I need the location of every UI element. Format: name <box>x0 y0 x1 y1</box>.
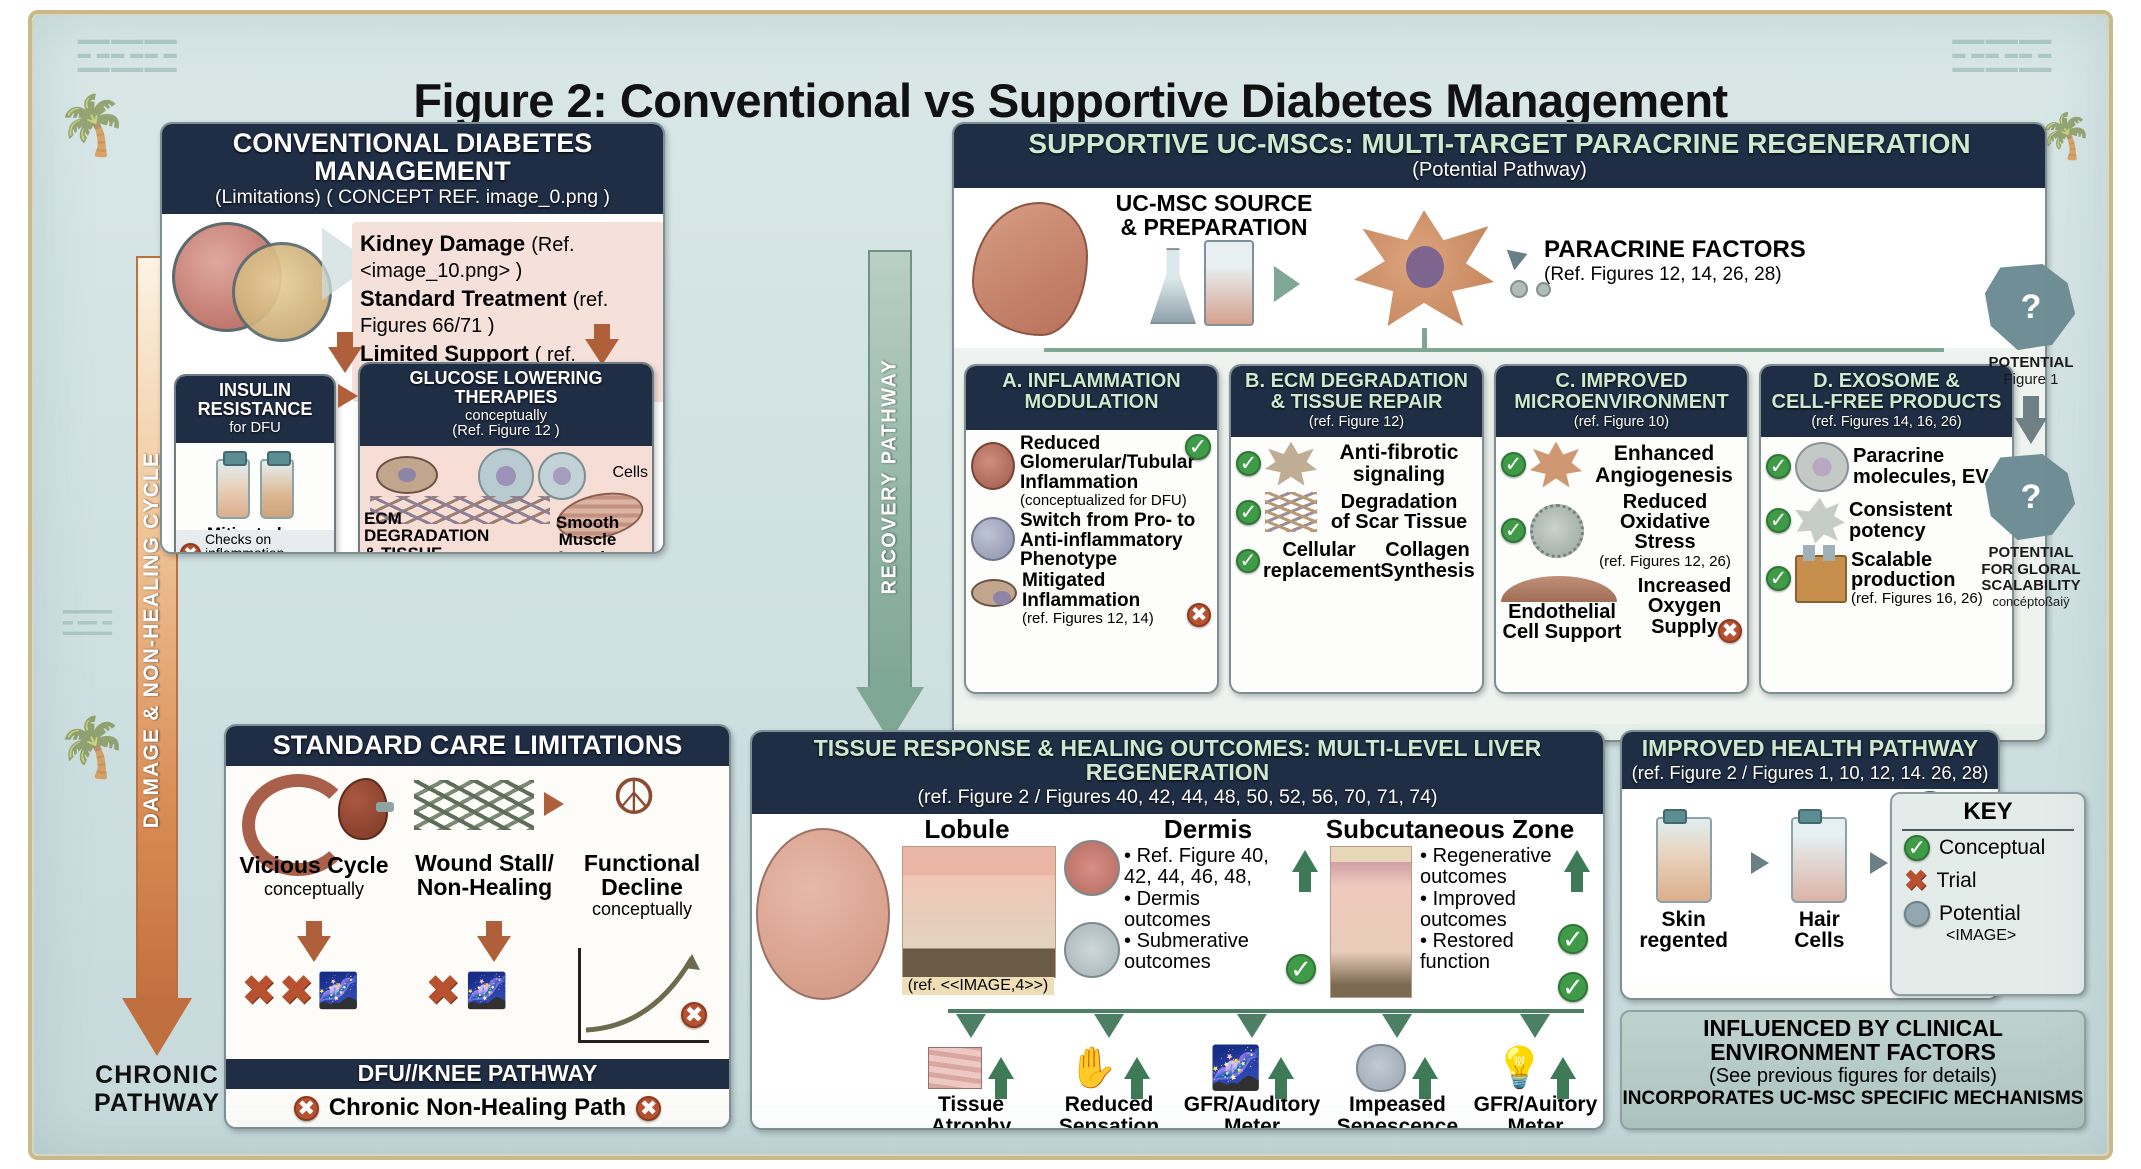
insulin-resistance-card: INSULIN RESISTANCE for DFU ✓ Mitigated <box>174 374 336 554</box>
down-arrow-shaft <box>486 921 502 937</box>
ecm-l2: & TISSUE ATROPHY <box>364 545 524 554</box>
tissue-response-header: TISSUE RESPONSE & HEALING OUTCOMES: MULT… <box>752 732 1603 814</box>
conventional-card: CONVENTIONAL DIABETES MANAGEMENT (Limita… <box>160 122 665 554</box>
panel-a-item1-l2: Anti-inflammatory <box>1020 531 1212 550</box>
health-step: Skin regented <box>1639 817 1728 952</box>
insulin-footer-note: ✖ Checks on inflammation conceptually <box>176 530 334 554</box>
down-arrow-shaft <box>306 921 322 937</box>
vicious-title: Vicious Cycle <box>226 852 402 879</box>
dermis-bullet-2: Submerative outcomes <box>1124 930 1249 973</box>
outcome-l1: GFR/Auditory <box>1178 1094 1326 1115</box>
snail-icon: 🌌 <box>317 971 359 1011</box>
arrow-source-to-cell <box>1274 266 1300 302</box>
key-row-trial: ✖ Trial <box>1892 865 2084 897</box>
potential-arrow-shaft <box>2023 396 2039 418</box>
insulin-resistance-header: INSULIN RESISTANCE for DFU <box>176 376 334 443</box>
tissue-atrophy-icon <box>928 1047 982 1089</box>
vicious-sub: conceptually <box>226 879 402 900</box>
panel-b-item2-l2: replacement <box>1263 561 1375 581</box>
list-item: • Improved outcomes <box>1420 889 1570 931</box>
outcome-item: Tissue Atrophy <box>902 1014 1040 1130</box>
source-l1: UC-MSC SOURCE <box>1104 192 1324 216</box>
panel-c-item2b-l1: Increased <box>1627 576 1742 596</box>
check-badge-icon: ✓ <box>1501 452 1526 477</box>
down-arrow-icon <box>956 1014 986 1038</box>
palm-icon-right: 🌴 <box>2038 110 2093 162</box>
potential-bottom-l3: SCALABILITY <box>1971 578 2091 595</box>
panel-a-item0-sub: (conceptualized for DFU) <box>1020 492 1212 509</box>
panel-b-l1: B. ECM DEGRADATION <box>1245 370 1468 392</box>
insulin-vial-icon <box>216 459 250 519</box>
oxidative-stress-icon <box>1530 504 1584 558</box>
potential-column-top: ? POTENTIAL Figure 1 ? POTENTIAL FOR GLO… <box>1971 264 2091 609</box>
outcome-l2: Atrophy <box>902 1116 1040 1130</box>
vascular-branch-icon: ☮ <box>578 772 690 830</box>
arrow-to-paracrine <box>1507 244 1531 271</box>
collagen-fibers-icon <box>414 780 534 830</box>
chronic-non-healing-row: ✖ Chronic Non-Healing Path ✖ <box>226 1089 729 1127</box>
angiogenic-cell-icon <box>1530 442 1582 488</box>
panel-b-ecm-degradation-tissue-repair: B. ECM DEGRADATION & TISSUE REPAIR (ref.… <box>1229 364 1484 694</box>
smooth-muscle-label: Smooth Muscle Atrophy conceptually (Ref.… <box>525 514 650 554</box>
improved-health-title: IMPROVED HEALTH PATHWAY <box>1642 735 1979 761</box>
up-arrow-icon <box>1268 1057 1294 1079</box>
standard-care-header: STANDARD CARE LIMITATIONS <box>226 726 729 766</box>
outcome-l2: Meter <box>1178 1116 1326 1130</box>
key-label: Potential <box>1939 902 2021 926</box>
x-badge-icon: ✖ <box>681 1002 707 1028</box>
item-vicious-cycle: Vicious Cycle conceptually <box>226 852 402 920</box>
x-badge-icon: ✖ <box>180 543 201 554</box>
cochlea-icon: 🌌 <box>1210 1044 1262 1093</box>
panel-b-sub: (ref. Figure 12) <box>1237 415 1476 430</box>
down-arrow-to-insulin <box>328 347 362 373</box>
lightbulb-icon: 💡 <box>1495 1048 1545 1088</box>
potential-badge-icon <box>1904 901 1930 927</box>
potential-top-label: POTENTIAL Figure 1 <box>1971 355 2091 388</box>
down-arrow-icon <box>1520 1014 1550 1038</box>
senescent-cell-icon <box>1356 1044 1406 1092</box>
dermis-bullets: • Ref. Figure 40, 42, 44, 46, 48, • Derm… <box>1124 846 1284 973</box>
potential-bottom-l2: FOR GLORAL <box>1971 562 2091 579</box>
tissue-response-title: TISSUE RESPONSE & HEALING OUTCOMES: MULT… <box>814 735 1542 785</box>
panel-a-item0-l3: Inflammation <box>1020 473 1212 492</box>
panel-b-l2: & TISSUE REPAIR <box>1271 391 1443 413</box>
panel-a-header: A. INFLAMMATION MODULATION <box>966 366 1217 430</box>
insulin-resistance-sub: for DFU <box>182 421 328 436</box>
key-box: KEY ✓ Conceptual ✖ Trial Potential <IMAG… <box>1890 792 2086 996</box>
improved-health-sub: (ref. Figure 2 / Figures 1, 10, 12, 14. … <box>1628 763 1992 782</box>
down-arrow-shaft <box>337 332 353 348</box>
down-arrow-icon <box>1237 1014 1267 1038</box>
standard-care-card: STANDARD CARE LIMITATIONS ☮ Vicious Cycl… <box>224 724 731 1129</box>
wound-title-l1: Wound Stall/ <box>402 852 567 875</box>
scar-fibers-icon <box>1265 492 1317 532</box>
improved-health-header: IMPROVED HEALTH PATHWAY (ref. Figure 2 /… <box>1622 732 1998 789</box>
glucose-lowering-card: GLUCOSE LOWERING THERAPIES conceptually … <box>358 362 654 554</box>
panel-c-improved-microenvironment: C. IMPROVED MICROENVIRONMENT (ref. Figur… <box>1494 364 1749 694</box>
outcome-l1: GFR/Auitory <box>1469 1094 1602 1115</box>
smooth-l1: Smooth Muscle <box>525 514 650 549</box>
supportive-header-sub: (Potential Pathway) <box>960 160 2039 181</box>
standard-care-body: ☮ Vicious Cycle conceptually Wound Stall… <box>226 766 729 1068</box>
check-badge-icon: ✓ <box>1558 972 1588 1002</box>
failed-outcome-group-2: ✖ 🌌 <box>426 971 508 1011</box>
influenced-l3: (See previous figures for details) <box>1622 1065 2084 1088</box>
panel-c-item0-l1: Enhanced <box>1586 443 1742 464</box>
glucose-lowering-title: GLUCOSE LOWERING THERAPIES <box>410 368 603 407</box>
x-badge-icon: ✖ <box>294 1096 319 1121</box>
check-badge-icon: ✓ <box>1558 924 1588 954</box>
panel-b-item1-l2: of Scar Tissue <box>1321 512 1477 532</box>
panel-a-item0-l2: Glomerular/Tubular <box>1020 453 1212 472</box>
up-arrow-icon <box>988 1057 1014 1079</box>
panel-a-l2: MODULATION <box>1024 391 1158 413</box>
check-badge-icon: ✓ <box>1236 500 1261 525</box>
snail-icon: 🌌 <box>466 971 508 1011</box>
kidney-icon <box>338 778 388 840</box>
potential-bottom-l1: POTENTIAL <box>1971 545 2091 562</box>
down-arrow-vicious <box>297 936 331 962</box>
flat-cell-icon <box>971 579 1017 607</box>
key-label: Trial <box>1936 869 1976 893</box>
outcome-l2: Senescence <box>1326 1116 1469 1130</box>
panel-a-l1: A. INFLAMMATION <box>1002 370 1181 392</box>
up-arrow-icon <box>1412 1057 1438 1079</box>
panel-b-item0-l1: Anti-fibrotic <box>1321 442 1477 463</box>
subq-bullets: • Regenerative outcomes • Improved outco… <box>1420 846 1570 973</box>
dermis-bullet-0: Ref. Figure 40, 42, 44, 46, 48, <box>1124 845 1269 888</box>
key-potential-sub: <IMAGE> <box>1892 927 2084 945</box>
insulin-footer-l2: inflammation <box>205 546 284 554</box>
bottle-icon <box>1204 240 1254 326</box>
bullet-bold: Standard Treatment <box>360 286 567 311</box>
fibroblast-cell-icon <box>376 456 438 494</box>
subcutaneous-title: Subcutaneous Zone <box>1324 814 1576 845</box>
panel-c-sub: (ref. Figure 10) <box>1502 415 1741 430</box>
item-wound-stall: Wound Stall/ Non-Healing <box>402 852 567 920</box>
step-l2: Cells <box>1791 930 1847 951</box>
vesicle-dot-icon <box>1536 282 1551 297</box>
paracrine-sub: (Ref. Figures 12, 14, 26, 28) <box>1544 264 1806 286</box>
subq-bullet-0: Regenerative outcomes <box>1420 845 1552 888</box>
panel-b-header: B. ECM DEGRADATION & TISSUE REPAIR (ref.… <box>1231 366 1482 437</box>
panel-b-item0-l2: signaling <box>1321 464 1477 485</box>
paracrine-factors-label: PARACRINE FACTORS (Ref. Figures 12, 14, … <box>1544 236 1806 286</box>
outcome-l2: Meter <box>1469 1116 1602 1130</box>
bus-drop <box>1422 328 1427 352</box>
panel-a-item2-l2: Inflammation <box>1022 591 1212 610</box>
potential-map-icon: ? <box>1983 454 2079 540</box>
panel-c-item2b-l2: Oxygen <box>1627 596 1742 616</box>
insulin-resistance-title: INSULIN RESISTANCE <box>198 380 313 419</box>
poster-frame: ☲☲☲ ☲☲☲ 🌴 🌴 ☲☲ Figure 2: Conventional vs… <box>28 10 2113 1160</box>
glucose-sub1: conceptually <box>366 409 646 424</box>
check-badge-icon: ✓ <box>1286 954 1316 984</box>
lobule-ref: (ref. <<IMAGE,4>>) <box>902 977 1054 995</box>
potential-bottom-l4: concéptoßaiÿ <box>1971 595 2091 609</box>
list-item: • Ref. Figure 40, 42, 44, 46, 48, <box>1124 846 1284 888</box>
liver-lobule-icon <box>756 828 890 1000</box>
panel-b-item2-l1: Cellular <box>1263 540 1375 560</box>
arrow-insulin-to-glucose <box>338 384 358 408</box>
glucose-lowering-body: Cells ECM DEGRADATION & TISSUE ATROPHY c… <box>360 446 652 554</box>
hand-icon: ✋ <box>1068 1048 1118 1088</box>
flask-icon <box>1150 248 1196 324</box>
chronic-line1: CHRONIC <box>72 1062 242 1090</box>
up-arrow-icon <box>1292 850 1318 872</box>
inset-cell-icon <box>1064 922 1120 978</box>
skin-layers-icon <box>1330 846 1412 998</box>
down-arrow-wound <box>477 936 511 962</box>
chronic-non-healing-text: Chronic Non-Healing Path <box>329 1094 626 1122</box>
endothelial-layer-icon <box>1501 576 1617 602</box>
umbilical-cord-icon <box>972 202 1088 336</box>
x-icon: ✖ <box>242 975 276 1007</box>
panel-c-item1-sub: (ref. Figures 12, 26) <box>1588 553 1742 570</box>
step-l1: Hair <box>1791 909 1847 930</box>
influenced-by-clinical-box: INFLUENCED BY CLINICAL ENVIRONMENT FACTO… <box>1620 1010 2086 1130</box>
item-functional-decline: Functional Decline conceptually <box>567 852 717 920</box>
check-badge-icon: ✓ <box>1766 454 1791 479</box>
wound-title-l2: Non-Healing <box>402 876 567 899</box>
check-badge-icon: ✓ <box>1236 549 1260 573</box>
list-item: • Dermis outcomes <box>1124 889 1284 931</box>
subq-bullet-1: Improved outcomes <box>1420 888 1516 931</box>
distribution-bus <box>1044 348 1944 352</box>
x-icon: ✖ <box>280 975 314 1007</box>
outcome-l1: Impeased <box>1326 1094 1469 1115</box>
inset-cell-icon <box>1064 840 1120 896</box>
panel-c-item1-l2: Oxidative Stress <box>1588 512 1742 553</box>
msc-nucleus <box>1406 246 1444 288</box>
round-cell-icon <box>538 452 586 500</box>
bioreactor-icon <box>1795 555 1847 603</box>
panel-d-l2: CELL-FREE PRODUCTS <box>1772 391 2002 413</box>
key-label: Conceptual <box>1939 836 2045 860</box>
conventional-header-sub: (Limitations) ( CONCEPT REF. image_0.png… <box>168 187 657 207</box>
step-l2: regented <box>1639 930 1728 951</box>
key-title: KEY <box>1902 794 2074 831</box>
panel-c-body: ✓ Enhanced Angiogenesis ✓ <box>1496 437 1747 648</box>
supportive-body: UC-MSC SOURCE & PREPARATION PARACRINE FA… <box>954 188 2045 724</box>
recovery-arrow-label: RECOVERY PATHWAY <box>879 262 902 692</box>
x-badge-icon: ✖ <box>636 1096 661 1121</box>
spiky-vesicle-icon <box>1795 498 1845 544</box>
x-icon: ✖ <box>426 975 460 1007</box>
lobule-title: Lobule <box>892 814 1042 845</box>
recovery-pathway-arrow: RECOVERY PATHWAY <box>860 250 920 750</box>
cells-label: Cells <box>612 464 648 482</box>
chronic-pathway-label: CHRONIC PATHWAY <box>72 1062 242 1117</box>
potential-top-l2: Figure 1 <box>1971 372 2091 389</box>
outcomes-row: Tissue Atrophy ✋ Reduced Sensation <box>902 1014 1602 1130</box>
skin-wound-histology-icon <box>902 846 1056 978</box>
conventional-header: CONVENTIONAL DIABETES MANAGEMENT (Limita… <box>162 124 663 214</box>
hair-cells-vial-icon <box>1791 817 1847 903</box>
health-step: Hair Cells <box>1791 817 1847 952</box>
panel-b-item2b-l1: Collagen <box>1378 540 1477 560</box>
panel-a-inflammation-modulation: A. INFLAMMATION MODULATION Reduced Glome… <box>964 364 1219 694</box>
panel-a-item2-l1: Mitigated <box>1022 571 1212 590</box>
skin-vial-icon <box>1656 817 1712 903</box>
supportive-ucmsc-card: SUPPORTIVE UC-MSCs: MULTI-TARGET PARACRI… <box>952 122 2047 742</box>
up-arrow-icon <box>1564 850 1590 872</box>
panel-b-body: ✓ Anti-fibrotic signaling ✓ <box>1231 437 1482 587</box>
glomerulus-icon <box>971 442 1015 490</box>
decline-graph: ✖ <box>578 948 709 1043</box>
outcome-l1: Tissue <box>902 1094 1040 1115</box>
potential-down-arrow <box>2015 418 2047 444</box>
exosome-cluster-icon <box>1795 442 1849 492</box>
panel-a-item2-sub: (ref. Figures 12, 14) <box>1022 610 1212 627</box>
dna-icon-midleft: ☲☲ <box>60 604 109 644</box>
standard-care-item-labels: Vicious Cycle conceptually Wound Stall/ … <box>226 852 729 920</box>
outcome-l1: Reduced <box>1040 1094 1178 1115</box>
panel-c-item0-l2: Angiogenesis <box>1586 465 1742 486</box>
bullet-bold: Kidney Damage <box>360 231 525 256</box>
insulin-vials-illustration <box>180 459 330 519</box>
x-icon: ✖ <box>1904 870 1927 892</box>
supportive-header: SUPPORTIVE UC-MSCs: MULTI-TARGET PARACRI… <box>954 124 2045 188</box>
check-badge-icon: ✓ <box>1501 518 1526 543</box>
tissue-response-card: TISSUE RESPONSE & HEALING OUTCOMES: MULT… <box>750 730 1605 1130</box>
standard-care-footer: DFU//KNEE PATHWAY ✖ Chronic Non-Healing … <box>226 1059 729 1127</box>
ucmsc-source-strip: UC-MSC SOURCE & PREPARATION PARACRINE FA… <box>954 188 2045 348</box>
figure-page: ☲☲☲ ☲☲☲ 🌴 🌴 ☲☲ Figure 2: Conventional vs… <box>0 0 2141 1169</box>
panel-c-l1: C. IMPROVED <box>1555 370 1687 392</box>
panel-c-item1-l1: Reduced <box>1588 492 1742 512</box>
list-item: • Restored function <box>1420 931 1570 973</box>
key-row-conceptual: ✓ Conceptual <box>1892 831 2084 865</box>
panel-a-body: Reduced Glomerular/Tubular Inflammation … <box>966 430 1217 631</box>
panel-a-item0-l1: Reduced <box>1020 434 1212 453</box>
macrophage-cluster-icon <box>971 517 1015 561</box>
panel-d-l1: D. EXOSOME & <box>1813 370 1960 392</box>
outcome-bus <box>948 1009 1584 1013</box>
dermis-bullet-1: Dermis outcomes <box>1124 888 1211 931</box>
down-arrow-icon <box>1382 1014 1412 1038</box>
down-arrow-shaft <box>594 324 610 340</box>
x-badge-icon: ✖ <box>1718 619 1742 643</box>
arrow-to-functional-decline <box>544 792 564 816</box>
arrow-icon <box>1751 852 1769 874</box>
panel-c-item2-l2: Cell Support <box>1501 622 1623 642</box>
ucmsc-source-label: UC-MSC SOURCE & PREPARATION <box>1104 192 1324 240</box>
check-badge-icon: ✓ <box>1766 566 1791 591</box>
x-badge-icon: ✖ <box>1187 603 1211 627</box>
potential-top-l1: POTENTIAL <box>1971 355 2091 372</box>
source-l2: & PREPARATION <box>1104 216 1324 240</box>
bullet-row: Kidney Damage (Ref. <image_10.png> ) <box>360 231 660 283</box>
glucose-vial-icon <box>260 459 294 519</box>
chronic-line2: PATHWAY <box>72 1090 242 1118</box>
paracrine-title: PARACRINE FACTORS <box>1544 236 1806 264</box>
palm-icon-bottomleft: 🌴 <box>56 714 128 782</box>
failed-outcome-group-1: ✖ ✖ 🌌 <box>242 971 359 1011</box>
step-l1: Skin <box>1639 909 1728 930</box>
list-item: • Submerative outcomes <box>1124 931 1284 973</box>
outcome-l2: Sensation <box>1040 1116 1178 1130</box>
mechanism-panels: A. INFLAMMATION MODULATION Reduced Glome… <box>964 364 2014 694</box>
panel-c-l2: MICROENVIRONMENT <box>1514 391 1728 413</box>
ecm-degradation-label: ECM DEGRADATION & TISSUE ATROPHY concept… <box>364 510 524 554</box>
panel-a-item1-l1: Switch from Pro- to <box>1020 511 1212 530</box>
outcome-item: 💡 GFR/Auitory Meter <box>1469 1014 1602 1130</box>
page-title: Figure 2: Conventional vs Supportive Dia… <box>32 73 2109 128</box>
outcome-item: Impeased Senescence <box>1326 1014 1469 1130</box>
up-arrow-icon <box>1550 1057 1576 1079</box>
tissue-response-sub: (ref. Figure 2 / Figures 40, 42, 44, 48,… <box>758 787 1597 807</box>
bullet-row: Standard Treatment (ref. Figures 66/71 ) <box>360 286 660 338</box>
panel-c-header: C. IMPROVED MICROENVIRONMENT (ref. Figur… <box>1496 366 1747 437</box>
tissue-response-body: Lobule (ref. <<IMAGE,4>>) Dermis • Ref. … <box>752 814 1603 1130</box>
panel-c-item2-l1: Endothelial <box>1501 602 1623 622</box>
conventional-body: Kidney Damage (Ref. <image_10.png> ) Sta… <box>162 214 663 554</box>
conventional-header-title: CONVENTIONAL DIABETES MANAGEMENT <box>233 128 593 186</box>
panel-a-item1-l3: Phenotype <box>1020 550 1212 569</box>
decline-sub: conceptually <box>567 899 717 920</box>
star-cell-icon <box>1265 442 1317 486</box>
ecm-l1: ECM DEGRADATION <box>364 510 524 545</box>
panel-b-item1-l1: Degradation <box>1321 492 1477 512</box>
smooth-l2: Atrophy <box>525 549 650 554</box>
decline-title-l2: Decline <box>567 876 717 899</box>
list-item: • Regenerative outcomes <box>1420 846 1570 888</box>
influenced-l2: ENVIRONMENT FACTORS <box>1622 1040 2084 1064</box>
influenced-l4: INCORPORATES UC-MSC SPECIFIC MECHANISMS <box>1622 1088 2084 1110</box>
check-badge-icon: ✓ <box>1185 434 1211 460</box>
glucose-sub2: (Ref. Figure 12 ) <box>366 424 646 439</box>
key-row-potential: Potential <box>1892 897 2084 927</box>
down-arrow-icon <box>1094 1014 1124 1038</box>
outcome-item: ✋ Reduced Sensation <box>1040 1014 1178 1130</box>
insulin-footer-l1: Checks on <box>205 532 284 547</box>
dfu-knee-pathway-header: DFU//KNEE PATHWAY <box>226 1059 729 1089</box>
dermis-title: Dermis <box>1128 814 1288 845</box>
check-badge-icon: ✓ <box>1236 451 1261 476</box>
outcome-item: 🌌 GFR/Auditory Meter <box>1178 1014 1326 1130</box>
subq-bullet-2: Restored function <box>1420 930 1514 973</box>
glucose-lowering-header: GLUCOSE LOWERING THERAPIES conceptually … <box>360 364 652 446</box>
check-badge-icon: ✓ <box>1766 508 1791 533</box>
influenced-l1: INFLUENCED BY CLINICAL <box>1622 1016 2084 1040</box>
panel-b-item2b-l2: Synthesis <box>1378 561 1477 581</box>
supportive-header-title: SUPPORTIVE UC-MSCs: MULTI-TARGET PARACRI… <box>1028 128 1970 159</box>
decline-title-l1: Functional <box>567 852 717 875</box>
potential-bottom-label: POTENTIAL FOR GLORAL SCALABILITY concépt… <box>1971 545 2091 609</box>
up-arrow-icon <box>1124 1057 1150 1079</box>
arrow-icon <box>1870 852 1888 874</box>
kidney-histology-illustration <box>170 220 345 345</box>
check-badge-icon: ✓ <box>1904 835 1930 861</box>
vesicle-dot-icon <box>1510 280 1528 298</box>
potential-map-icon: ? <box>1983 264 2079 350</box>
